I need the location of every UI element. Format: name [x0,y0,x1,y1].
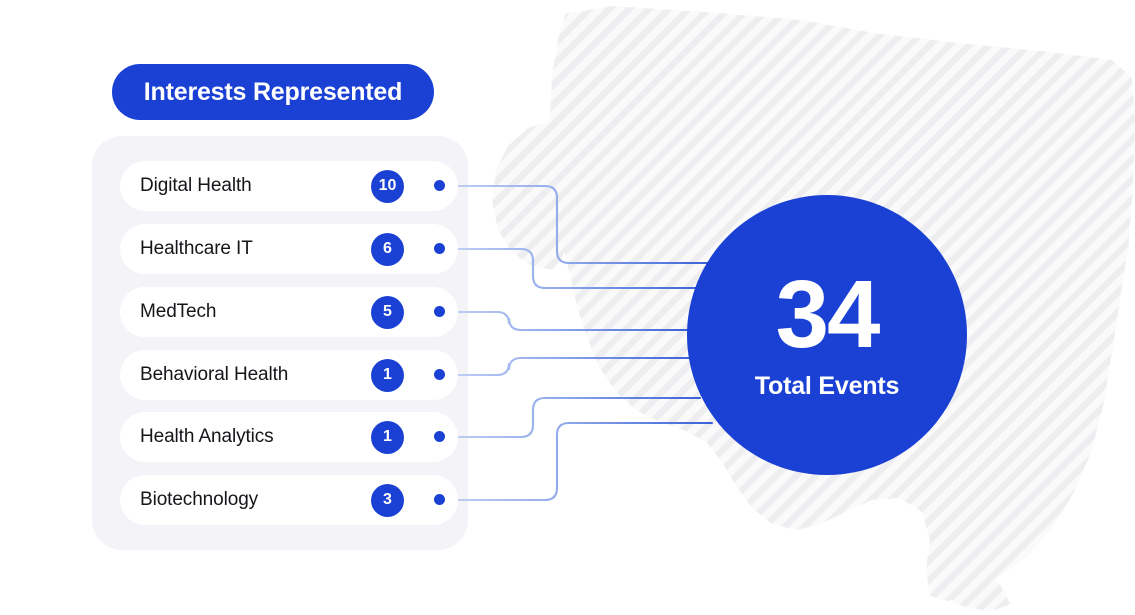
total-events-number: 34 [776,269,879,360]
infographic-canvas: Interests Represented Digital Health 10 … [0,0,1135,615]
list-item-label: Biotechnology [140,489,258,511]
status-badge: 1 [371,421,404,454]
status-badge: 10 [371,170,404,203]
status-badge: 6 [371,233,404,266]
page-title: Interests Represented [112,64,434,120]
list-item-label: Health Analytics [140,426,274,448]
list-item-label: MedTech [140,301,216,323]
connector-dot-icon [434,494,445,505]
connector-dot-icon [434,243,445,254]
connector-dot-icon [434,306,445,317]
list-item[interactable]: Digital Health 10 [120,161,458,211]
total-events-label: Total Events [755,372,899,401]
status-badge: 1 [371,359,404,392]
total-events-circle: 34 Total Events [687,195,967,475]
list-item[interactable]: Healthcare IT 6 [120,224,458,274]
list-item-label: Behavioral Health [140,364,288,386]
connector-dot-icon [434,369,445,380]
connector-dot-icon [434,431,445,442]
connector-dot-icon [434,180,445,191]
list-item[interactable]: Health Analytics 1 [120,412,458,462]
status-badge: 5 [371,296,404,329]
list-item[interactable]: Biotechnology 3 [120,475,458,525]
list-item[interactable]: Behavioral Health 1 [120,350,458,400]
list-item-label: Healthcare IT [140,238,253,260]
page-title-label: Interests Represented [144,78,402,107]
list-item[interactable]: MedTech 5 [120,287,458,337]
list-item-label: Digital Health [140,175,252,197]
status-badge: 3 [371,484,404,517]
